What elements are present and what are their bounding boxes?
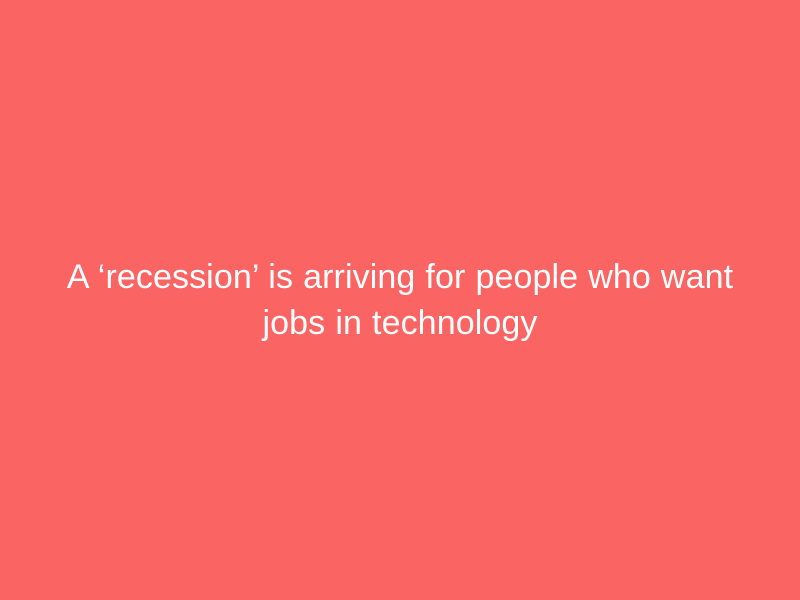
headline-block: A ‘recession’ is arriving for people who… (60, 254, 740, 346)
page-title: A ‘recession’ is arriving for people who… (60, 254, 740, 346)
hero-card: A ‘recession’ is arriving for people who… (0, 0, 800, 600)
